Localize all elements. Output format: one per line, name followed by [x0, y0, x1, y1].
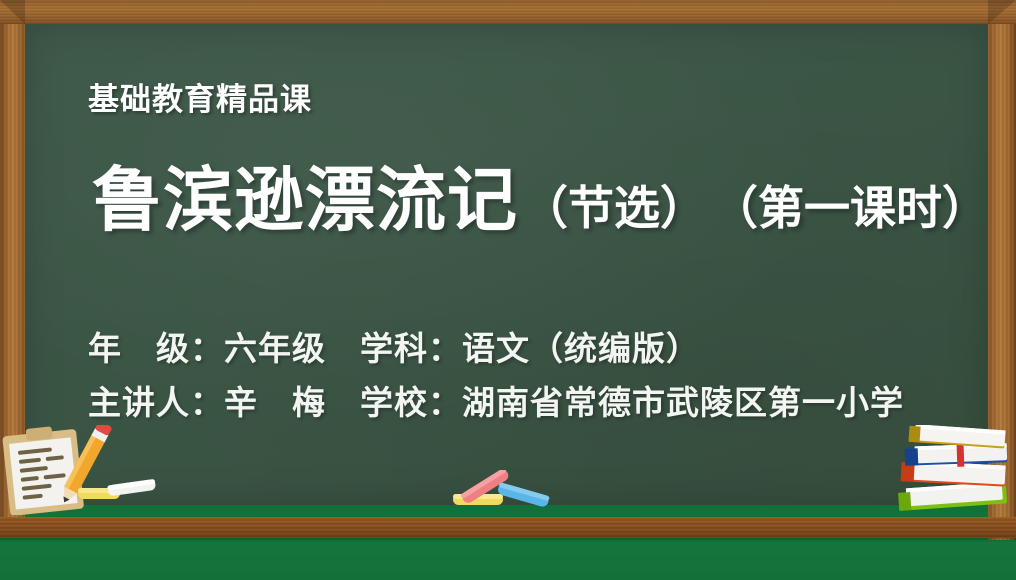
book-stack-icon: [895, 425, 1016, 522]
presentation-slide: 基础教育精品课 鲁滨逊漂流记 （节选） （第一课时） 年 级：六年级 学科：语文…: [0, 0, 1016, 580]
chalkboard-frame: [0, 0, 1016, 540]
ledge-front-face: [0, 517, 1016, 538]
ledge-drop-shadow: [0, 538, 1016, 542]
chalk-sticks-icon: [445, 470, 555, 517]
frame-corner-top-left: [0, 0, 25, 24]
frame-corner-top-right: [988, 0, 1016, 24]
frame-top-rail: [0, 0, 1016, 24]
chalk-sticks-icon: [78, 478, 158, 513]
